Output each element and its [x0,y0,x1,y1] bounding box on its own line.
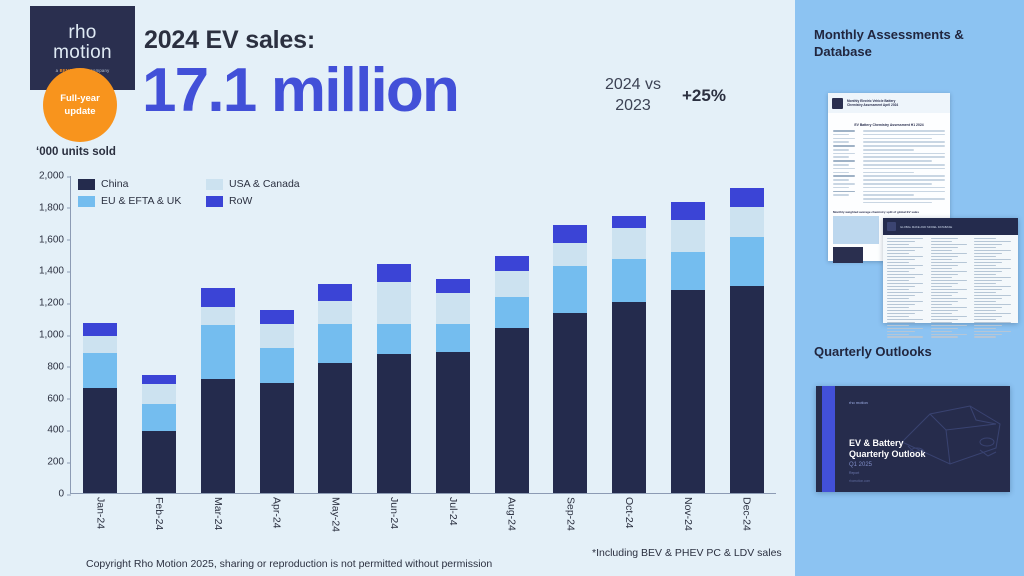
database-row [887,238,923,239]
database-row [974,283,996,284]
database-row [974,328,996,329]
database-row [931,319,959,320]
document-chart-area [833,216,879,244]
database-row [974,259,1010,260]
database-row [974,265,996,266]
database-row [887,307,909,308]
y-axis-tick: 1,200 [39,298,71,309]
database-row [974,271,1002,272]
database-row [974,247,996,248]
database-row [974,292,996,293]
database-row [974,244,1002,245]
database-row [887,295,915,296]
bar-column[interactable]: Apr-24 [260,176,294,493]
x-axis-tick-label: Aug-24 [506,497,518,531]
bar-segment-row [730,188,764,207]
bar-segment-eu [612,259,646,302]
database-row [887,328,923,329]
database-row [931,250,953,251]
bar-segment-china [142,431,176,493]
comparison-value: +25% [682,86,726,106]
logo-text-rho: rho [68,23,96,42]
bar-column[interactable]: Sep-24 [553,176,587,493]
legend-label: USA & Canada [229,178,300,190]
legend-swatch-icon [206,196,223,207]
bar-column[interactable]: Dec-24 [730,176,764,493]
database-row [931,280,967,281]
database-row [974,295,1010,296]
bar-segment-china [553,313,587,493]
database-row [974,319,996,320]
database-column [931,238,971,339]
x-axis-tick-label: Feb-24 [153,497,165,530]
section-title-quarterly-outlooks: Quarterly Outlooks [814,343,1014,360]
database-logo-icon [887,222,896,231]
y-axis-tick: 2,000 [39,171,71,182]
database-row [887,277,915,278]
page-subtitle: 2024 EV sales: [144,26,315,55]
bar-segment-row [142,375,176,385]
bar-segment-row [495,256,529,271]
bar-column[interactable]: Jun-24 [377,176,411,493]
bar-segment-china [318,363,352,493]
database-row [887,241,915,242]
x-axis-tick-label: Jan-24 [94,497,106,529]
database-row [974,250,1010,251]
bar-segment-usa-canada [260,324,294,348]
database-row [931,271,967,272]
legend-swatch-icon [78,179,95,190]
database-row [974,336,996,337]
comparison-label: 2024 vs 2023 [594,74,672,116]
bar-segment-china [671,290,705,493]
bar-segment-eu [495,297,529,328]
x-axis-tick-label: Apr-24 [271,497,283,529]
bar-column[interactable]: Jan-24 [83,176,117,493]
bar-column[interactable]: Mar-24 [201,176,235,493]
bar-segment-usa-canada [553,243,587,265]
database-row [887,256,923,257]
database-row [974,322,1010,323]
bar-segment-eu [260,348,294,384]
database-row [974,313,1010,314]
bar-segment-usa-canada [318,301,352,324]
database-row [931,307,967,308]
x-axis-tick-label: Jun-24 [388,497,400,529]
database-row [887,301,923,302]
bar-segment-eu [671,252,705,290]
y-axis-tick: 200 [47,457,71,468]
legend-swatch-icon [78,196,95,207]
logo-text-motion: motion [53,43,112,62]
bar-segment-eu [553,266,587,313]
chart-panel: rho motion a BENCHMARK company Full-year… [0,0,795,576]
bar-segment-china [436,352,470,493]
database-row [931,259,953,260]
database-row [887,271,909,272]
database-row [887,325,909,326]
chart-legend: ChinaUSA & CanadaEU & EFTA & UKRoW [78,178,300,207]
x-axis-tick-label: Jul-24 [447,497,459,526]
document-chart-title: Monthly weighted average chemistry split… [833,210,945,214]
database-row [931,325,967,326]
bar-segment-row [318,284,352,301]
database-table-thumbnail[interactable]: GLOBAL MAKE AND MODEL DATABASE [883,218,1018,323]
database-row [931,313,953,314]
legend-label: RoW [229,195,252,207]
database-row [931,292,959,293]
database-row [887,334,909,335]
legend-label: China [101,178,128,190]
bar-segment-china [83,388,117,493]
database-row [974,238,996,239]
legend-item: RoW [206,195,300,207]
database-row [974,241,1010,242]
database-row [887,244,909,245]
bar-segment-row [260,310,294,324]
bar-segment-row [377,264,411,281]
database-row [931,286,953,287]
bar-segment-row [83,323,117,337]
legend-swatch-icon [206,179,223,190]
bar-series-container: Jan-24Feb-24Mar-24Apr-24May-24Jun-24Jul-… [71,176,776,493]
database-row [931,244,967,245]
section-title-monthly-assessments: Monthly Assessments & Database [814,26,1014,60]
outlook-meta-1: Report [849,471,859,475]
database-row [974,298,1002,299]
y-axis-tick: 400 [47,425,71,436]
x-axis-tick-label: Nov-24 [682,497,694,531]
database-row [974,268,1010,269]
y-axis-tick: 1,800 [39,202,71,213]
database-row [931,304,953,305]
bar-segment-eu [142,404,176,431]
bar-segment-eu [377,324,411,353]
database-row [931,241,953,242]
bar-column[interactable]: May-24 [318,176,352,493]
database-row [887,313,915,314]
database-row [974,304,1010,305]
bar-segment-usa-canada [671,220,705,252]
bar-segment-row [201,288,235,307]
database-row [931,265,959,266]
page-title: 17.1 million [142,55,458,127]
bar-segment-row [671,202,705,220]
outlook-logo: rho motion [849,400,868,405]
database-row [931,256,959,257]
database-row [974,307,1002,308]
database-row [887,298,909,299]
database-row [931,310,959,311]
outlook-accent-stripe [822,386,835,492]
database-row [931,238,959,239]
bar-column[interactable]: Nov-24 [671,176,705,493]
full-year-update-badge: Full-year update [43,68,117,142]
database-row [931,301,959,302]
bar-column[interactable]: Oct-24 [612,176,646,493]
database-header-text: GLOBAL MAKE AND MODEL DATABASE [900,225,952,229]
database-row [887,319,923,320]
y-axis-tick: 1,600 [39,234,71,245]
database-row [887,322,915,323]
database-row [887,331,915,332]
database-row [931,253,967,254]
database-row [887,292,923,293]
document-logo-icon [832,98,843,109]
footnote-text: *Including BEV & PHEV PC & LDV sales [592,547,782,559]
bar-column[interactable]: Feb-24 [142,176,176,493]
legend-item: China [78,178,200,190]
bar-segment-eu [201,325,235,378]
legend-label: EU & EFTA & UK [101,195,181,207]
database-row [887,262,909,263]
bar-segment-row [553,225,587,243]
bar-column[interactable]: Jul-24 [436,176,470,493]
database-row [887,250,915,251]
x-axis-tick-label: Dec-24 [741,497,753,531]
bar-segment-usa-canada [201,307,235,325]
database-row [974,310,996,311]
database-row [974,280,1002,281]
database-row [974,301,996,302]
database-row [887,253,909,254]
bar-segment-china [612,302,646,493]
legend-item: EU & EFTA & UK [78,195,200,207]
y-axis-tick: 1,000 [39,330,71,341]
database-row [931,322,953,323]
database-row [887,274,923,275]
database-row [931,277,953,278]
database-row [887,310,923,311]
database-row [931,283,959,284]
database-row [887,265,923,266]
database-row [931,328,959,329]
ev-car-illustration-icon [884,390,1010,476]
database-row [887,304,915,305]
database-row [931,334,967,335]
x-axis-tick-label: Sep-24 [564,497,576,531]
ev-sales-stacked-bar-chart: 02004006008001,0001,2001,4001,6001,8002,… [30,168,780,508]
bar-segment-usa-canada [377,282,411,325]
database-row [974,262,1002,263]
database-row [931,289,967,290]
database-row [887,283,923,284]
database-row [931,331,953,332]
document-left-column [833,130,859,206]
database-row [931,295,953,296]
quarterly-outlook-thumbnail[interactable]: rho motion EV & Battery Quarterly Outloo… [816,386,1010,492]
x-axis-tick-label: Mar-24 [212,497,224,530]
y-axis-tick: 0 [58,489,71,500]
chart-plot-area: 02004006008001,0001,2001,4001,6001,8002,… [70,176,776,494]
database-row [974,289,1002,290]
bar-segment-china [260,383,294,493]
database-row [887,259,915,260]
legend-item: USA & Canada [206,178,300,190]
badge-line-2: update [64,105,95,118]
document-header-text: Monthly Electric Vehicle Battery Chemist… [847,99,898,108]
outlook-title: EV & Battery Quarterly Outlook [849,438,926,460]
bar-segment-usa-canada [142,384,176,404]
bar-column[interactable]: Aug-24 [495,176,529,493]
bar-segment-china [201,379,235,493]
x-axis-tick-label: Oct-24 [623,497,635,529]
bar-segment-china [495,328,529,493]
database-row [931,268,953,269]
database-column [887,238,927,339]
y-axis-unit-label: ‘000 units sold [36,146,116,158]
database-row [974,256,996,257]
bar-segment-china [377,354,411,493]
database-row [887,289,909,290]
database-table-header: GLOBAL MAKE AND MODEL DATABASE [883,218,1018,235]
database-row [887,336,923,337]
bar-segment-eu [730,237,764,285]
bar-segment-usa-canada [612,228,646,259]
database-row [974,331,1010,332]
database-row [974,274,996,275]
database-row [931,262,967,263]
bar-segment-row [612,216,646,229]
bar-segment-row [436,279,470,293]
bar-segment-eu [436,324,470,353]
bar-segment-eu [318,324,352,362]
bar-segment-usa-canada [83,336,117,353]
outlook-meta-2: rhomotion.com [849,479,870,483]
document-heading: EV Battery Chemistry Assessment H1 2024 [833,123,945,127]
database-row [931,274,959,275]
database-row [931,247,959,248]
document-right-column [863,130,945,206]
y-axis-tick: 800 [47,361,71,372]
y-axis-tick: 600 [47,393,71,404]
database-row [974,316,1002,317]
database-row [974,253,1002,254]
database-row [974,325,1002,326]
bar-segment-usa-canada [436,293,470,324]
infographic-root: rho motion a BENCHMARK company Full-year… [0,0,1024,576]
database-row [974,286,1010,287]
database-row [931,316,967,317]
copyright-text: Copyright Rho Motion 2025, sharing or re… [86,558,492,570]
database-row [887,280,909,281]
x-axis-tick-label: May-24 [329,497,341,532]
document-header: Monthly Electric Vehicle Battery Chemist… [828,93,950,113]
database-table-body [883,235,1018,342]
database-row [974,334,1002,335]
database-row [887,247,923,248]
database-row [931,298,967,299]
bar-segment-china [730,286,764,493]
monthly-assessment-thumbnails[interactable]: Monthly Electric Vehicle Battery Chemist… [828,93,1018,323]
bar-segment-usa-canada [730,207,764,237]
database-row [887,268,915,269]
database-row [974,277,1010,278]
outlook-quarter: Q1 2025 [849,462,872,468]
badge-line-1: Full-year [60,92,100,105]
database-column [974,238,1014,339]
database-row [887,286,915,287]
bar-segment-usa-canada [495,271,529,297]
database-row [931,336,959,337]
bar-segment-eu [83,353,117,388]
document-subheader [828,113,950,120]
y-axis-tick: 1,400 [39,266,71,277]
database-row [887,316,909,317]
document-chart-footer [833,247,863,263]
